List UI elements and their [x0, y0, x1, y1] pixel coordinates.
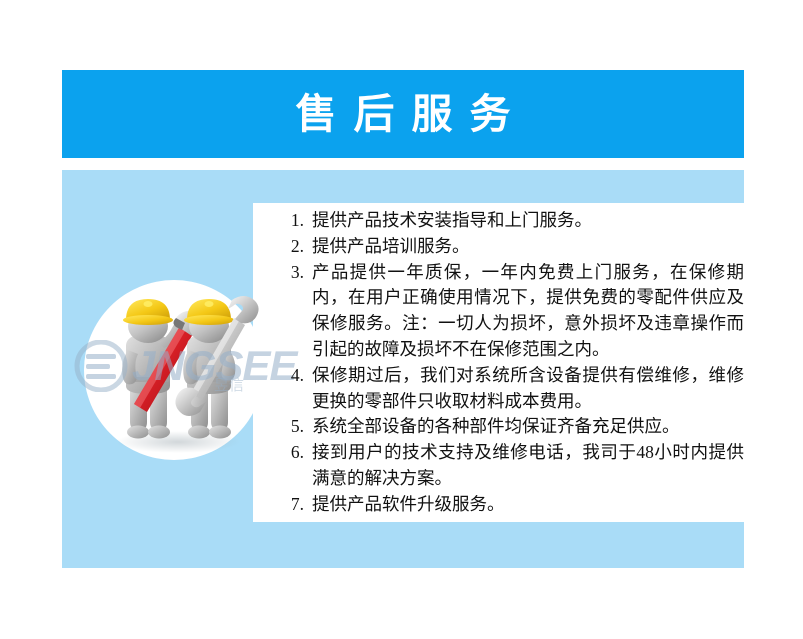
two-workers-illustration — [92, 282, 264, 462]
service-list-item-number: 1. — [274, 208, 304, 234]
service-list-item-number: 6. — [274, 440, 304, 466]
service-list-item-number: 5. — [274, 414, 304, 440]
service-list-item-number: 2. — [274, 234, 304, 260]
service-list-item-text: 系统全部设备的各种部件均保证齐备充足供应。 — [312, 416, 680, 436]
service-list-item: 5.系统全部设备的各种部件均保证齐备充足供应。 — [274, 414, 744, 440]
service-list-item: 4.保修期过后，我们对系统所含设备提供有偿维修，维修更换的零部件只收取材料成本费… — [274, 363, 744, 415]
service-list-item-text: 保修期过后，我们对系统所含设备提供有偿维修，维修更换的零部件只收取材料成本费用。 — [312, 365, 744, 411]
page-title: 售后服务 — [279, 94, 528, 135]
service-list-item-number: 3. — [274, 260, 304, 286]
service-list-item-number: 7. — [274, 492, 304, 518]
page-root: 售后服务 — [0, 0, 803, 639]
service-list-item-text: 提供产品技术安装指导和上门服务。 — [312, 210, 592, 230]
service-list-item-text: 提供产品培训服务。 — [312, 236, 470, 256]
service-list-item: 6.接到用户的技术支持及维修电话，我司于48小时内提供满意的解决方案。 — [274, 440, 744, 492]
title-banner: 售后服务 — [62, 70, 744, 158]
service-list-item: 3.产品提供一年质保，一年内免费上门服务，在保修期内，在用户正确使用情况下，提供… — [274, 260, 744, 363]
after-sales-service-list: 1.提供产品技术安装指导和上门服务。2.提供产品培训服务。3.产品提供一年质保，… — [274, 208, 744, 518]
service-list-item: 1.提供产品技术安装指导和上门服务。 — [274, 208, 744, 234]
service-list-item: 7.提供产品软件升级服务。 — [274, 492, 744, 518]
service-list-item-text: 提供产品软件升级服务。 — [312, 494, 505, 514]
service-list-item-text: 接到用户的技术支持及维修电话，我司于48小时内提供满意的解决方案。 — [312, 442, 744, 488]
content-panel: JNGSEE 昱信 1.提供产品技术安装指导和上门服务。2.提供产品培训服务。3… — [62, 170, 744, 568]
service-list-item-text: 产品提供一年质保，一年内免费上门服务，在保修期内，在用户正确使用情况下，提供免费… — [312, 262, 744, 359]
service-list-item-number: 4. — [274, 363, 304, 389]
service-list-item: 2.提供产品培训服务。 — [274, 234, 744, 260]
